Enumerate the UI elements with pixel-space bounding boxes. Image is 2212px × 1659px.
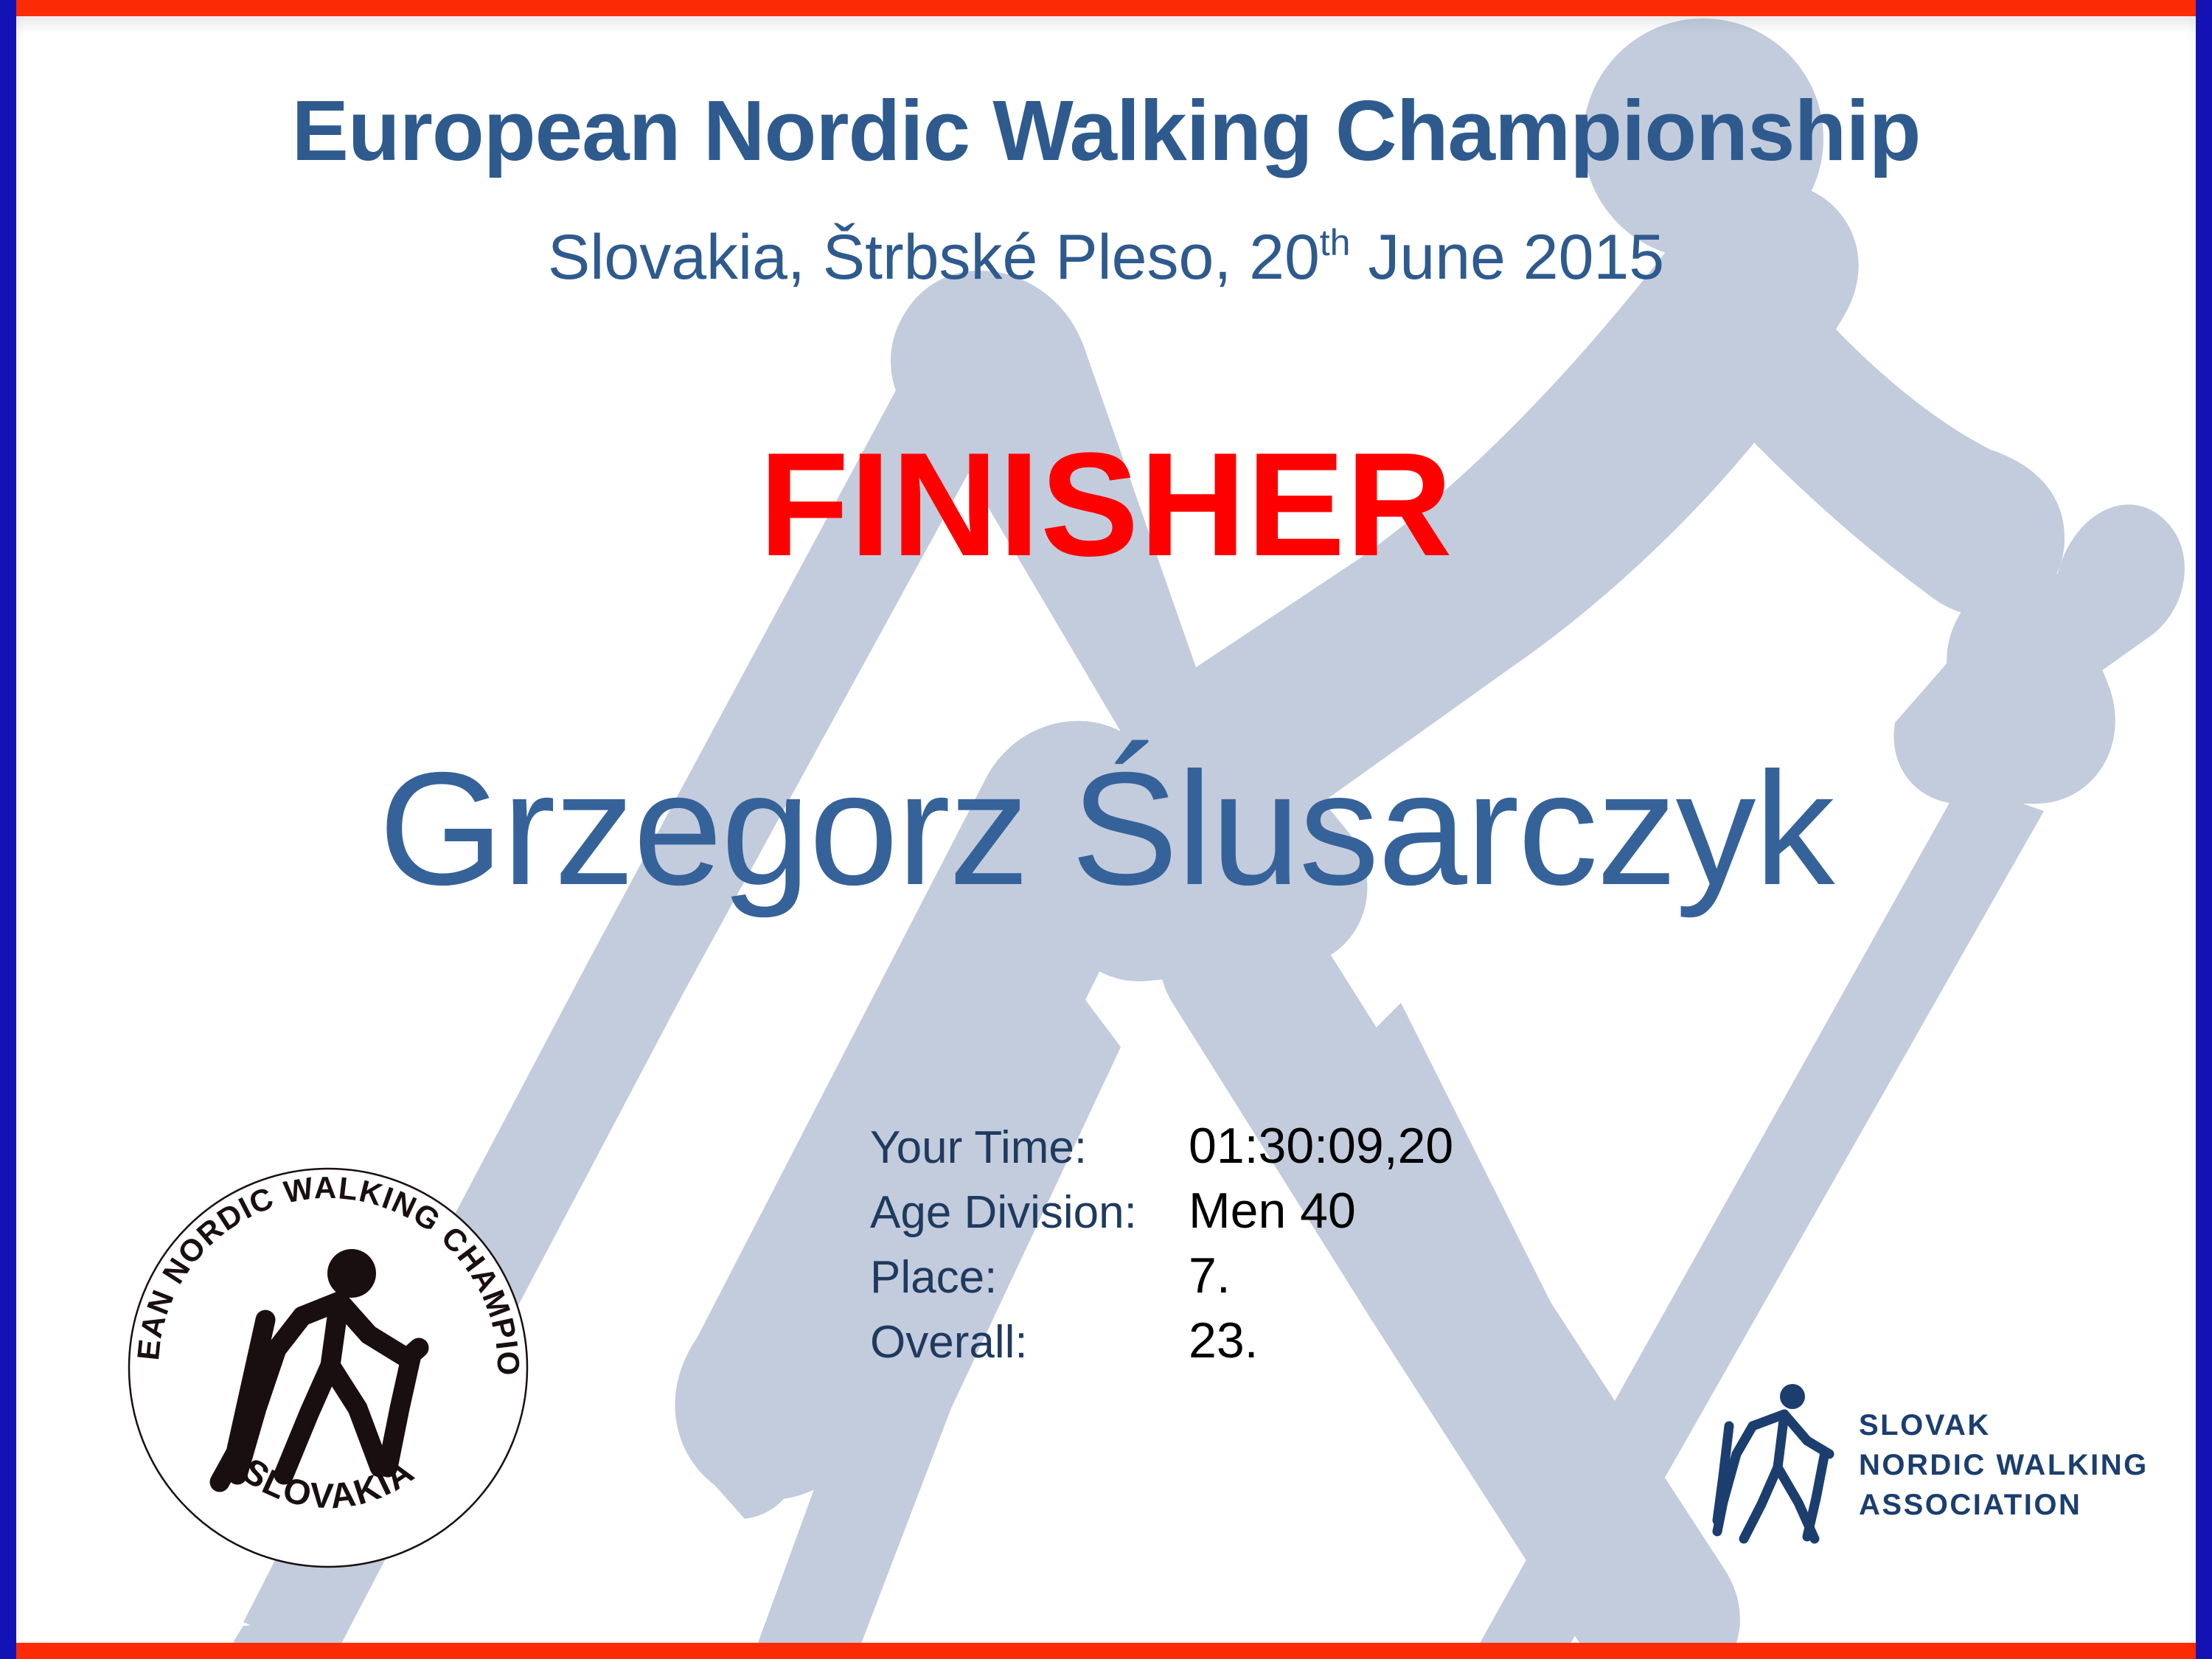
event-logo-walker-head-icon (327, 1249, 376, 1298)
table-row: Your Time: 01:30:09,20 (870, 1117, 1453, 1182)
page-title: European Nordic Walking Championship (0, 81, 2212, 180)
association-logo: SLOVAK NORDIC WALKING ASSOCIATION (1707, 1373, 2127, 1557)
results-block: Your Time: 01:30:09,20 Age Division: Men… (870, 1117, 1453, 1377)
event-subtitle-ordinal: th (1320, 222, 1351, 263)
border-top-bar (0, 0, 2212, 16)
result-value: 7. (1189, 1247, 1231, 1304)
association-line-2: NORDIC WALKING (1859, 1450, 2149, 1480)
award-status-badge: FINISHER (0, 420, 2212, 590)
association-walker-icon (1707, 1380, 1840, 1550)
border-left-bar (0, 0, 16, 1659)
border-bottom-bar (0, 1643, 2212, 1659)
association-wordmark: SLOVAK NORDIC WALKING ASSOCIATION (1859, 1411, 2149, 1520)
event-subtitle-suffix: June 2015 (1350, 222, 1664, 293)
result-label: Age Division: (870, 1186, 1189, 1239)
association-walker-head-icon (1780, 1384, 1805, 1409)
table-row: Age Division: Men 40 (870, 1182, 1453, 1247)
event-logo: EUROPEAN NORDIC WALKING CHAMPIONSHIP SLO… (125, 1165, 531, 1571)
certificate: European Nordic Walking Championship Slo… (0, 0, 2212, 1659)
result-label: Overall: (870, 1316, 1189, 1368)
association-line-3: ASSOCIATION (1859, 1490, 2149, 1520)
table-row: Overall: 23. (870, 1312, 1453, 1377)
event-subtitle: Slovakia, Štrbské Pleso, 20th June 2015 (0, 221, 2212, 294)
table-row: Place: 7. (870, 1247, 1453, 1312)
result-label: Your Time: (870, 1121, 1189, 1174)
association-line-1: SLOVAK (1859, 1411, 2149, 1440)
result-label: Place: (870, 1251, 1189, 1304)
event-subtitle-prefix: Slovakia, Štrbské Pleso, 20 (548, 222, 1320, 293)
result-value: 01:30:09,20 (1189, 1117, 1453, 1175)
border-right-bar (2196, 0, 2212, 1659)
result-value: 23. (1189, 1312, 1259, 1369)
result-value: Men 40 (1189, 1182, 1356, 1239)
athlete-name: Grzegorz Ślusarczyk (0, 737, 2212, 922)
